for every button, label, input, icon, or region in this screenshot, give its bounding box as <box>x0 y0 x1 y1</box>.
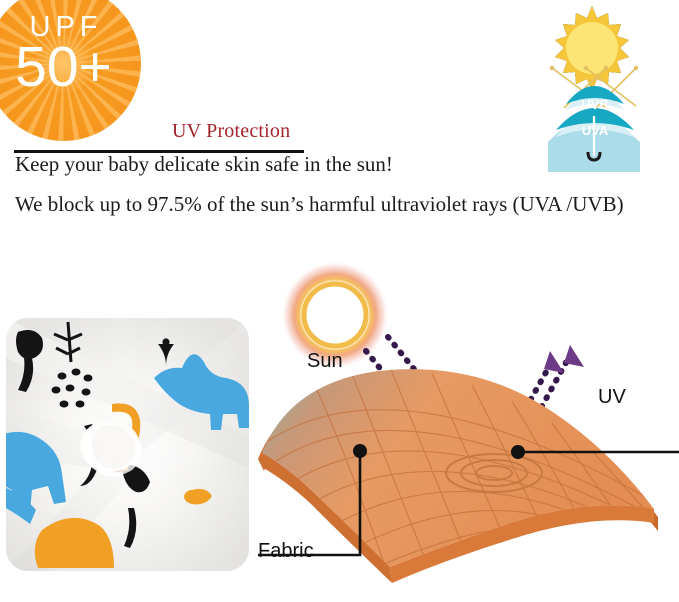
fabric-closeup-photo <box>6 318 249 571</box>
fabric-leader-dot <box>353 444 367 458</box>
body-text-line-2: We block up to 97.5% of the sun’s harmfu… <box>15 192 624 217</box>
reflected-ray-arrowheads <box>544 345 584 373</box>
upf-rating-badge: UPF 50+ <box>0 0 141 141</box>
sun-label: Sun <box>307 350 343 373</box>
uv-protection-heading: UV Protection <box>172 120 290 143</box>
badge-text-group: UPF 50+ <box>0 0 141 141</box>
uv-layer-label-uvb: UVB <box>581 97 608 112</box>
fabric-label: Fabric <box>258 540 314 563</box>
uv-reflection-diagram <box>250 255 679 602</box>
sun-umbrella-uv-icon: UVB UVA <box>540 4 670 174</box>
uv-layer-label-uva: UVA <box>582 123 609 138</box>
upf-value: 50+ <box>0 36 141 98</box>
body-text-line-1: Keep your baby delicate skin safe in the… <box>15 152 393 177</box>
uv-label: UV <box>598 386 626 409</box>
uv-protection-infographic: UPF 50+ <box>0 0 679 602</box>
uv-leader-dot <box>511 445 525 459</box>
